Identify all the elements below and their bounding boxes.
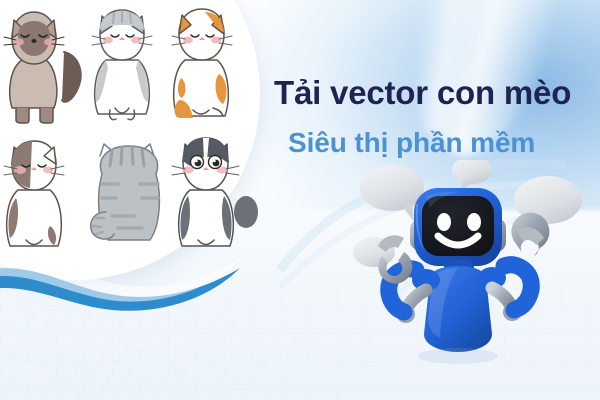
cat-grey-back-icon: [88, 140, 172, 252]
robot-mascot-illustration: [352, 160, 600, 375]
cat-siamese-icon: [2, 8, 94, 126]
page-title: Tải vector con mèo: [274, 76, 571, 109]
cat-grey-tabby-icon: [88, 6, 166, 124]
robot-eye-right: [467, 213, 481, 231]
robot-head: [414, 188, 502, 266]
cat-tuxedo-icon: [170, 136, 262, 256]
banner-canvas: Tải vector con mèo Siêu thị phần mềm: [0, 0, 600, 400]
blue-wave-swoosh-icon: [0, 250, 260, 320]
page-subtitle: Siêu thị phần mềm: [288, 129, 535, 157]
cat-illustration-grid: [0, 0, 260, 282]
speech-bubble-small-top: [452, 160, 492, 192]
cat-brown-patch-icon: [0, 138, 82, 254]
cat-orange-white-icon: [165, 4, 247, 126]
robot-eye-left: [437, 213, 451, 231]
